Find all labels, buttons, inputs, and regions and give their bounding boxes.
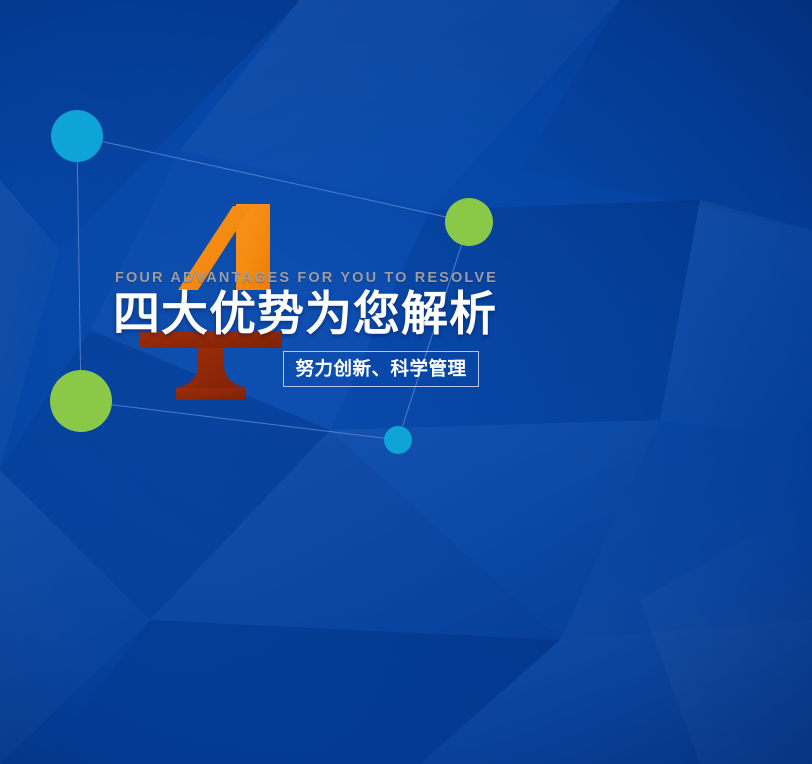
tagline-box: 努力创新、科学管理 — [283, 351, 479, 387]
tagline-text: 努力创新、科学管理 — [295, 360, 466, 379]
banner-stage: FOUR ADVANTAGES FOR YOU TO RESOLVE 四大优势为… — [0, 0, 812, 764]
eyebrow-text: FOUR ADVANTAGES FOR YOU TO RESOLVE — [115, 270, 753, 286]
node-cyan-top-left — [51, 110, 103, 162]
headline-text: 四大优势为您解析 — [113, 288, 753, 340]
node-cyan-bottom — [384, 426, 412, 454]
headline-group: FOUR ADVANTAGES FOR YOU TO RESOLVE 四大优势为… — [113, 270, 753, 340]
pillar-icon — [140, 332, 282, 400]
edge-green-bottom-to-cyan-bottom — [81, 401, 398, 440]
edge-cyan-top-to-green-bottom — [77, 136, 81, 401]
node-green-right — [445, 198, 493, 246]
node-green-bottom-left — [50, 370, 112, 432]
